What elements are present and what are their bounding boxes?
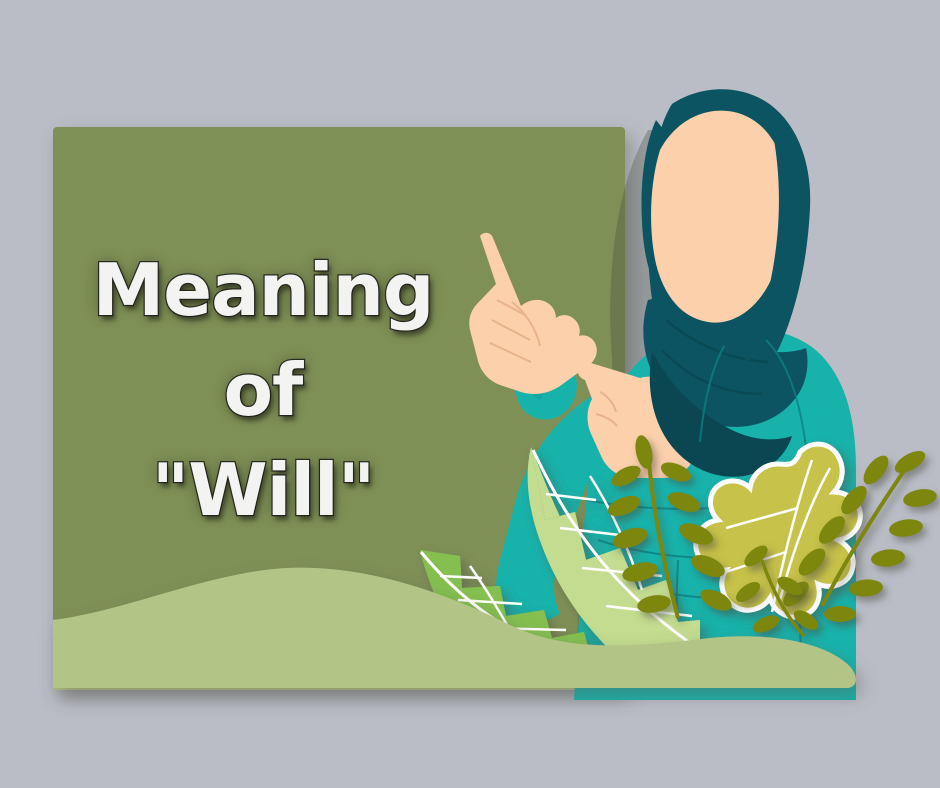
illustration-scene xyxy=(0,0,940,788)
poster-canvas: Meaning of "Will" xyxy=(0,0,940,788)
